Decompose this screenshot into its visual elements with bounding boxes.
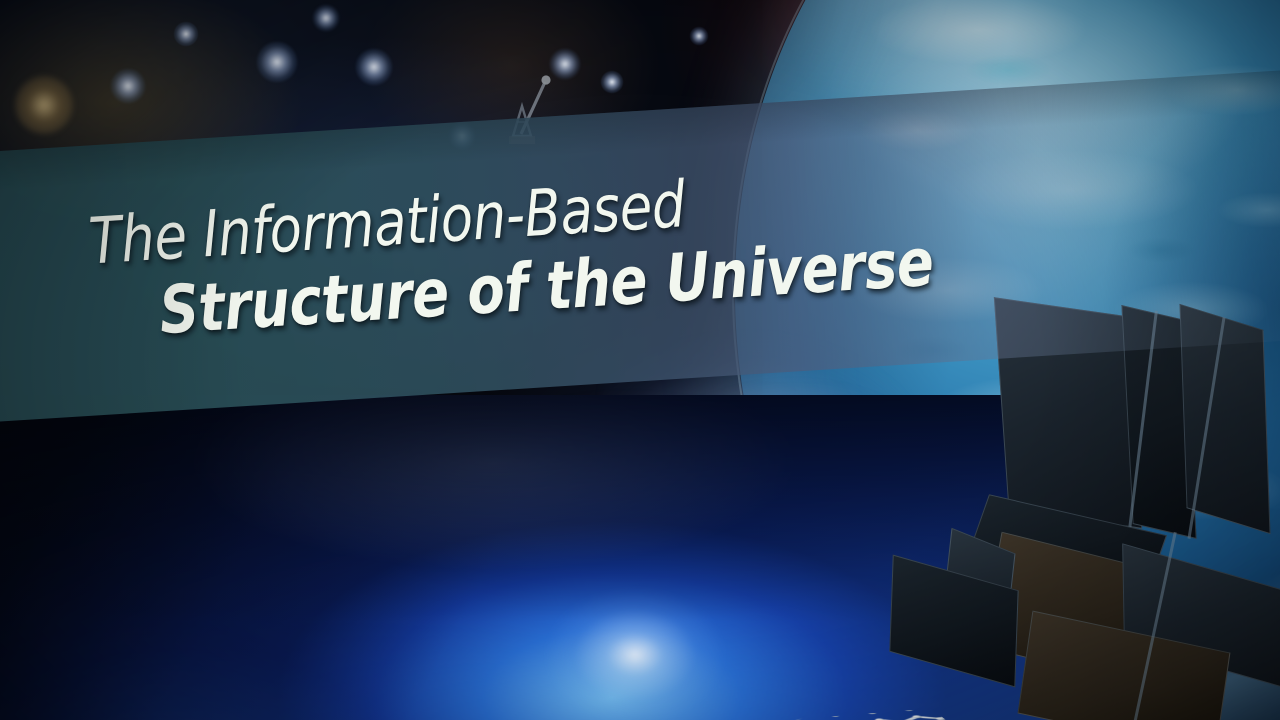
light-flare-small	[520, 560, 750, 720]
star-7	[174, 22, 198, 46]
satellite	[905, 300, 1280, 720]
star-10	[313, 5, 339, 31]
title-card-scene: The Information-Based Structure of the U…	[0, 0, 1280, 720]
star-8	[690, 27, 708, 45]
